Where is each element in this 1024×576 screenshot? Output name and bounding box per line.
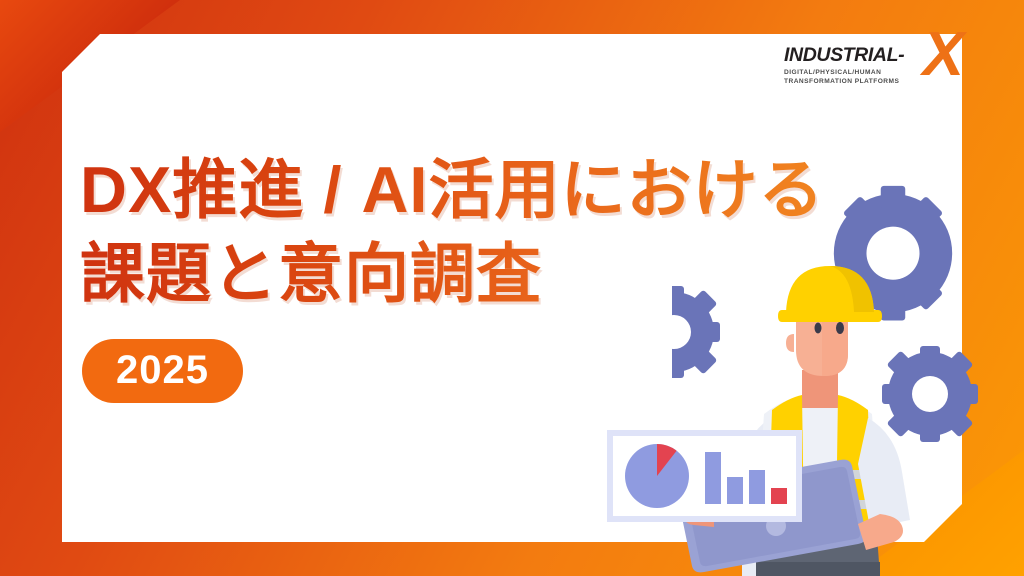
pie-chart: [625, 444, 689, 508]
gear-icon-small-left: [672, 286, 720, 378]
gear-icon-medium: [882, 346, 978, 442]
year-badge: 2025: [82, 339, 243, 403]
bar-2: [727, 477, 743, 504]
brand-tagline-line2: TRANSFORMATION PLATFORMS: [784, 78, 899, 85]
mini-chart: [613, 436, 796, 516]
bar-4: [771, 488, 787, 504]
bar-chart: [705, 452, 787, 504]
brand-tagline-line1: DIGITAL/PHYSICAL/HUMAN: [784, 69, 881, 76]
brand-logo[interactable]: INDUSTRIAL- X DIGITAL/PHYSICAL/HUMANTRAN…: [784, 26, 960, 96]
brand-tagline: DIGITAL/PHYSICAL/HUMANTRANSFORMATION PLA…: [784, 68, 899, 87]
brand-logo-wordmark: INDUSTRIAL-: [784, 44, 904, 67]
chart-card: [607, 430, 802, 522]
slide-root: INDUSTRIAL- X DIGITAL/PHYSICAL/HUMANTRAN…: [0, 0, 1024, 576]
brand-logo-x-mark: X: [923, 24, 964, 86]
worker-illustration: [674, 266, 910, 576]
bar-1: [705, 452, 721, 504]
bar-3: [749, 470, 765, 504]
